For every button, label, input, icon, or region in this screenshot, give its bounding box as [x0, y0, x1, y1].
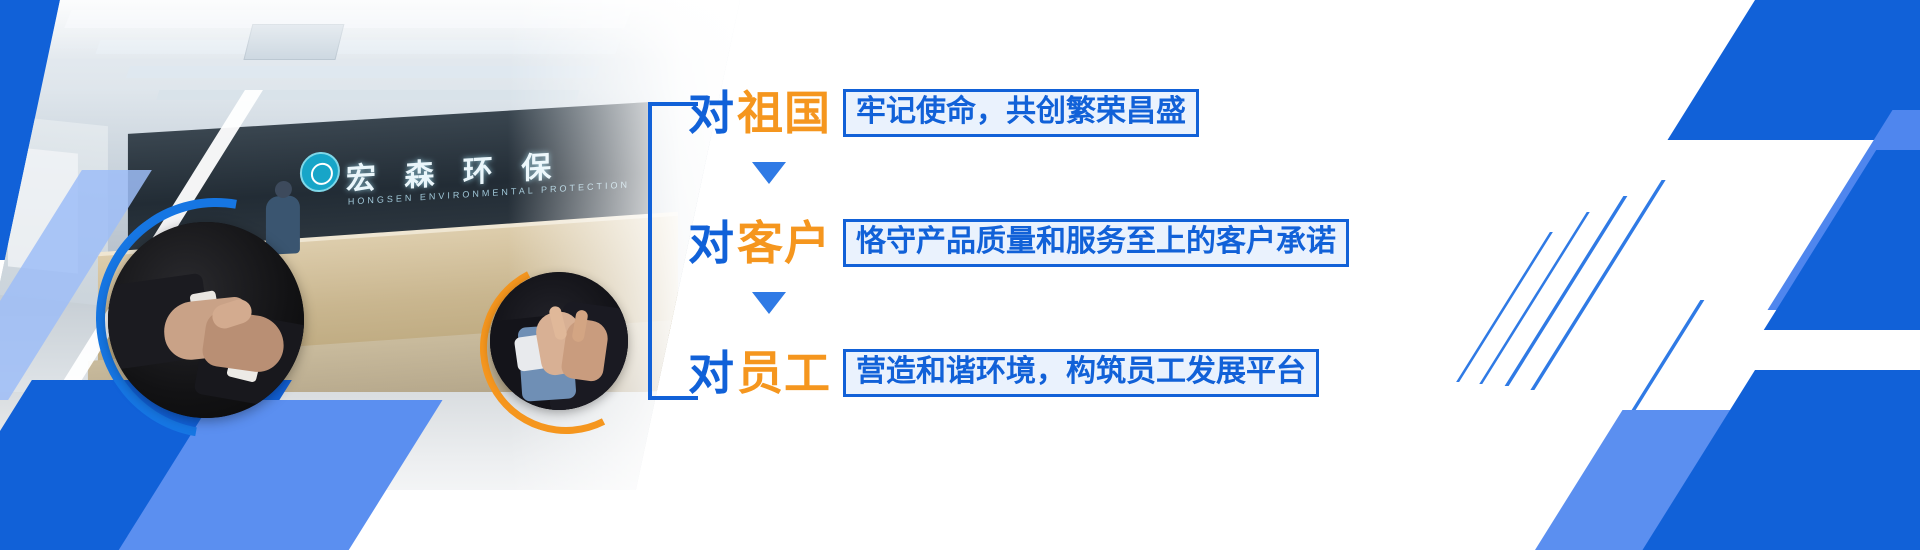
decor-line-right	[1479, 212, 1589, 384]
decor-shape-right-top	[1668, 0, 1920, 140]
value-prefix-employee: 对	[688, 350, 735, 396]
value-description-country: 牢记使命，共创繁荣昌盛	[843, 89, 1199, 137]
decor-line-right	[1530, 180, 1665, 390]
value-row-employee: 对 员工 营造和谐环境，构筑员工发展平台	[688, 346, 1319, 400]
value-keyword-customer: 客户	[737, 220, 831, 266]
company-values-banner: 宏 森 环 保 HONGSEN ENVIRONMENTAL PROTECTION	[0, 0, 1920, 550]
value-description-employee: 营造和谐环境，构筑员工发展平台	[843, 349, 1319, 397]
value-row-customer: 对 客户 恪守产品质量和服务至上的客户承诺	[688, 216, 1349, 270]
arrow-down-icon	[752, 292, 786, 314]
arrow-down-icon	[752, 162, 786, 184]
value-prefix-customer: 对	[688, 220, 735, 266]
value-keyword-employee: 员工	[737, 350, 831, 396]
handshake-photo	[108, 222, 304, 418]
values-content: 对 祖国 牢记使命，共创繁荣昌盛 对 客户 恪守产品质量和服务至上的客户承诺 对…	[640, 60, 1360, 480]
decor-shape-right-mid	[1764, 150, 1920, 330]
value-keyword-country: 祖国	[737, 90, 831, 136]
value-description-customer: 恪守产品质量和服务至上的客户承诺	[843, 219, 1349, 267]
applause-photo	[490, 272, 628, 410]
decor-line-right	[1632, 300, 1705, 410]
value-prefix-country: 对	[688, 90, 735, 136]
decor-line-right	[1456, 232, 1553, 382]
value-row-country: 对 祖国 牢记使命，共创繁荣昌盛	[688, 86, 1199, 140]
decor-line-right	[1505, 196, 1628, 386]
